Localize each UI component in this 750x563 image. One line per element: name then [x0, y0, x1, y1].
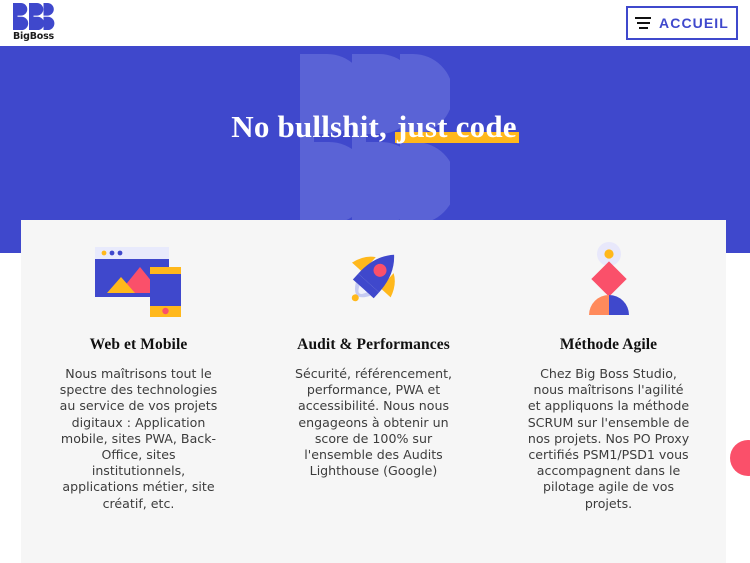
web-and-mobile-icon — [93, 232, 185, 328]
feature-card-web-et-mobile: Web et Mobile Nous maîtrisons tout le sp… — [21, 232, 256, 512]
hero-title-lead: No bullshit, — [231, 109, 395, 144]
agile-person-icon — [563, 232, 655, 328]
feature-card-text: Sécurité, référencement, performance, PW… — [294, 366, 454, 479]
page-root: BigBoss ACCUEIL — [0, 0, 750, 563]
accueil-nav-button-label: ACCUEIL — [659, 15, 729, 31]
feature-card-methode-agile: Méthode Agile Chez Big Boss Studio, nous… — [491, 232, 726, 512]
bigboss-bb-logo-icon — [13, 3, 59, 30]
brand-logo[interactable]: BigBoss — [10, 3, 66, 45]
accueil-nav-button[interactable]: ACCUEIL — [626, 6, 738, 40]
pink-circle-accent-icon — [730, 440, 750, 476]
feature-card-audit-performances: Audit & Performances Sécurité, référence… — [256, 232, 491, 512]
feature-card-title: Web et Mobile — [90, 336, 188, 354]
hero-title: No bullshit, just code — [0, 109, 750, 145]
feature-card-text: Chez Big Boss Studio, nous maîtrisons l'… — [527, 366, 690, 512]
hero-title-highlight: just code — [395, 109, 519, 145]
feature-card-list: Web et Mobile Nous maîtrisons tout le sp… — [21, 220, 726, 512]
site-header: BigBoss ACCUEIL — [0, 0, 750, 46]
feature-card-text: Nous maîtrisons tout le spectre des tech… — [56, 366, 221, 512]
feature-panel: Web et Mobile Nous maîtrisons tout le sp… — [21, 220, 726, 563]
hamburger-menu-icon — [635, 17, 651, 29]
feature-card-title: Audit & Performances — [297, 336, 450, 354]
rocket-icon — [328, 232, 420, 328]
brand-name: BigBoss — [13, 31, 66, 42]
feature-card-title: Méthode Agile — [560, 336, 657, 354]
